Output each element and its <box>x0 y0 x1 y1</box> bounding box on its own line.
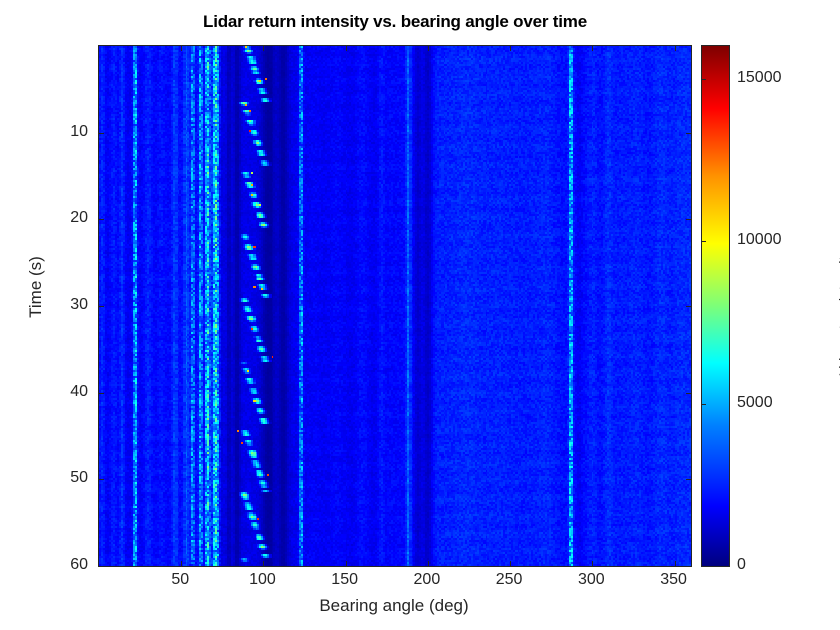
y-tick-label: 20 <box>70 209 88 227</box>
lidar-heatmap-figure: Lidar return intensity vs. bearing angle… <box>0 0 840 630</box>
colorbar-title: Lidar return intensity <box>836 183 840 443</box>
x-tick-mark <box>181 561 182 566</box>
y-axis-title: Time (s) <box>26 187 46 387</box>
x-tick-mark-top <box>592 46 593 51</box>
x-tick-label: 200 <box>414 571 441 589</box>
x-tick-mark-top <box>181 46 182 51</box>
y-tick-mark <box>99 479 104 480</box>
colorbar-tick-mark <box>701 566 706 567</box>
colorbar-tick-label: 5000 <box>737 394 773 412</box>
x-tick-label: 300 <box>578 571 605 589</box>
x-tick-mark <box>263 561 264 566</box>
y-tick-mark-right <box>686 566 691 567</box>
y-tick-mark-right <box>686 219 691 220</box>
colorbar-tick-mark <box>701 404 706 405</box>
x-tick-label: 250 <box>496 571 523 589</box>
y-tick-mark <box>99 393 104 394</box>
x-tick-mark-top <box>346 46 347 51</box>
colorbar-tick-label: 10000 <box>737 231 782 249</box>
x-tick-mark <box>428 561 429 566</box>
x-tick-mark <box>592 561 593 566</box>
x-tick-mark-top <box>510 46 511 51</box>
x-tick-label: 350 <box>660 571 687 589</box>
y-tick-mark <box>99 566 104 567</box>
x-tick-mark <box>675 561 676 566</box>
colorbar-tick-label: 15000 <box>737 69 782 87</box>
y-tick-mark-right <box>686 133 691 134</box>
y-tick-label: 50 <box>70 469 88 487</box>
y-tick-mark-right <box>686 393 691 394</box>
y-tick-mark <box>99 219 104 220</box>
x-tick-mark-top <box>263 46 264 51</box>
y-tick-label: 60 <box>70 556 88 574</box>
plot-area <box>98 45 692 567</box>
y-tick-mark-right <box>686 306 691 307</box>
y-tick-mark <box>99 306 104 307</box>
figure-title: Lidar return intensity vs. bearing angle… <box>0 12 790 32</box>
colorbar-tick-mark <box>701 241 706 242</box>
colorbar <box>701 45 730 567</box>
x-tick-label: 100 <box>249 571 276 589</box>
x-tick-mark <box>510 561 511 566</box>
x-tick-label: 50 <box>171 571 189 589</box>
colorbar-tick-label: 0 <box>737 556 746 574</box>
colorbar-tick-mark <box>701 79 706 80</box>
x-axis-title: Bearing angle (deg) <box>98 596 690 616</box>
y-tick-mark-right <box>686 479 691 480</box>
x-tick-mark <box>346 561 347 566</box>
x-tick-mark-top <box>675 46 676 51</box>
y-tick-label: 10 <box>70 123 88 141</box>
x-tick-label: 150 <box>331 571 358 589</box>
heatmap-canvas <box>99 46 691 566</box>
y-tick-label: 40 <box>70 383 88 401</box>
y-tick-mark <box>99 133 104 134</box>
x-tick-mark-top <box>428 46 429 51</box>
y-tick-label: 30 <box>70 296 88 314</box>
